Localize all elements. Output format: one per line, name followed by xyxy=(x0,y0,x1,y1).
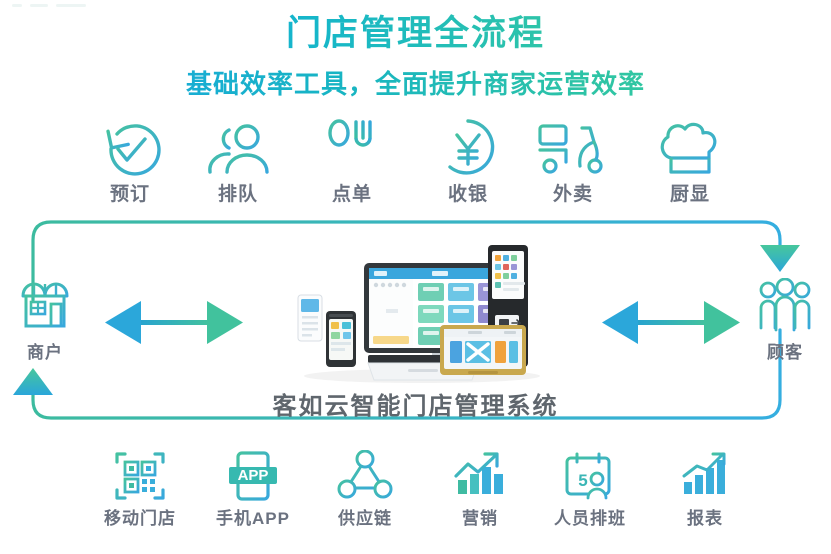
feature-bottom-2[interactable]: 供应链 xyxy=(315,440,415,530)
device-cluster xyxy=(292,243,557,383)
feature-bottom-5-label: 报表 xyxy=(687,508,723,530)
feature-bottom-5[interactable]: 报表 xyxy=(655,440,755,530)
feature-bottom-3-label: 营销 xyxy=(462,508,498,530)
feature-top-0[interactable]: 预订 xyxy=(80,116,180,206)
center-caption: 客如云智能门店管理系统 xyxy=(0,386,831,421)
feature-bottom-4-label: 人员排班 xyxy=(554,508,626,530)
report-bars-arrow-icon xyxy=(679,440,731,502)
device-handheld-pda xyxy=(326,311,356,367)
top-left-artifact-3 xyxy=(56,4,86,7)
feature-bottom-0[interactable]: 移动门店 xyxy=(90,440,190,530)
feature-bottom-1[interactable]: APP 手机APP xyxy=(203,440,303,530)
device-card-reader xyxy=(298,295,322,341)
growth-bar-arrow-icon xyxy=(452,440,508,502)
app-badge-text: APP xyxy=(238,467,269,484)
poster-canvas: 门店管理全流程 基础效率工具，全面提升商家运营效率 xyxy=(0,0,831,554)
storefront-icon xyxy=(17,276,73,334)
clock-rewind-check-icon xyxy=(99,116,161,178)
feature-top-2[interactable]: 点单 xyxy=(302,116,402,206)
delivery-scooter-icon xyxy=(536,116,610,178)
merchant-center-arrow xyxy=(105,301,243,344)
page-subtitle: 基础效率工具，全面提升商家运营效率 xyxy=(0,68,831,100)
node-merchant-label: 商户 xyxy=(27,338,63,363)
top-left-artifact-2 xyxy=(30,4,48,7)
yuan-circle-icon xyxy=(437,116,499,178)
feature-top-4[interactable]: 外卖 xyxy=(523,116,623,206)
node-merchant[interactable]: 商户 xyxy=(0,276,90,363)
flow-loop-down-arrowhead xyxy=(760,245,800,272)
page-title: 门店管理全流程 xyxy=(0,14,831,54)
feature-top-3-label: 收银 xyxy=(448,184,488,206)
feature-top-1[interactable]: 排队 xyxy=(188,116,288,206)
feature-bottom-2-label: 供应链 xyxy=(338,508,392,530)
chef-hat-icon xyxy=(657,116,723,178)
feature-top-2-label: 点单 xyxy=(332,184,372,206)
node-customer-label: 顾客 xyxy=(767,338,803,363)
center-customer-arrow xyxy=(602,301,740,344)
top-left-artifact-1 xyxy=(12,4,22,7)
feature-bottom-4[interactable]: 5 人员排班 xyxy=(540,440,640,530)
three-customers-icon xyxy=(754,276,816,334)
supply-chain-nodes-icon xyxy=(337,440,393,502)
feature-top-1-label: 排队 xyxy=(218,184,258,206)
mobile-app-icon: APP xyxy=(229,440,277,502)
feature-top-4-label: 外卖 xyxy=(553,184,593,206)
node-customer[interactable]: 顾客 xyxy=(740,276,830,363)
feature-top-5[interactable]: 厨显 xyxy=(640,116,740,206)
spoon-fork-icon xyxy=(325,116,379,178)
qr-code-scan-icon xyxy=(113,440,167,502)
calendar-number-text: 5 xyxy=(578,471,587,490)
feature-top-0-label: 预订 xyxy=(110,184,150,206)
two-people-queue-icon xyxy=(205,116,271,178)
calendar-person-icon: 5 xyxy=(561,440,619,502)
feature-top-5-label: 厨显 xyxy=(670,184,710,206)
feature-bottom-1-label: 手机APP xyxy=(216,508,290,530)
feature-top-3[interactable]: 收银 xyxy=(418,116,518,206)
feature-bottom-3[interactable]: 营销 xyxy=(430,440,530,530)
feature-bottom-0-label: 移动门店 xyxy=(104,508,176,530)
device-customer-display xyxy=(440,325,526,375)
